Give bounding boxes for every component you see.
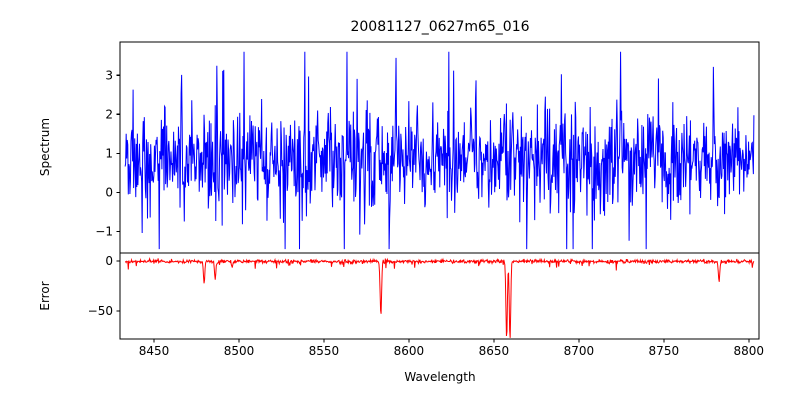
x-tick-label: 8450 bbox=[139, 344, 170, 358]
x-axis-label: Wavelength bbox=[404, 370, 475, 384]
x-tick-label: 8750 bbox=[649, 344, 680, 358]
x-tick-label: 8550 bbox=[309, 344, 340, 358]
x-tick-label: 8800 bbox=[734, 344, 765, 358]
error-y-axis-label: Error bbox=[38, 281, 52, 310]
error-y-tick-label: −50 bbox=[88, 304, 113, 318]
spectrum-y-tick-label: −1 bbox=[95, 225, 113, 239]
x-tick-label: 8600 bbox=[394, 344, 425, 358]
spectrum-y-tick-label: 1 bbox=[105, 147, 113, 161]
matplotlib-figure: 20081127_0627m65_016 3210−1 Spectrum 0−5… bbox=[0, 0, 800, 400]
error-y-tick-label: 0 bbox=[105, 254, 113, 268]
spectrum-y-tick-label: 2 bbox=[105, 107, 113, 121]
spectrum-y-tick-label: 3 bbox=[105, 68, 113, 82]
spectrum-y-tick-label: 0 bbox=[105, 186, 113, 200]
spectrum-y-axis-label: Spectrum bbox=[38, 118, 52, 176]
plot-canvas: 20081127_0627m65_016 3210−1 Spectrum 0−5… bbox=[0, 0, 800, 400]
x-tick-label: 8700 bbox=[564, 344, 595, 358]
x-tick-label: 8650 bbox=[479, 344, 510, 358]
page-title: 20081127_0627m65_016 bbox=[350, 19, 529, 35]
x-tick-label: 8500 bbox=[224, 344, 255, 358]
